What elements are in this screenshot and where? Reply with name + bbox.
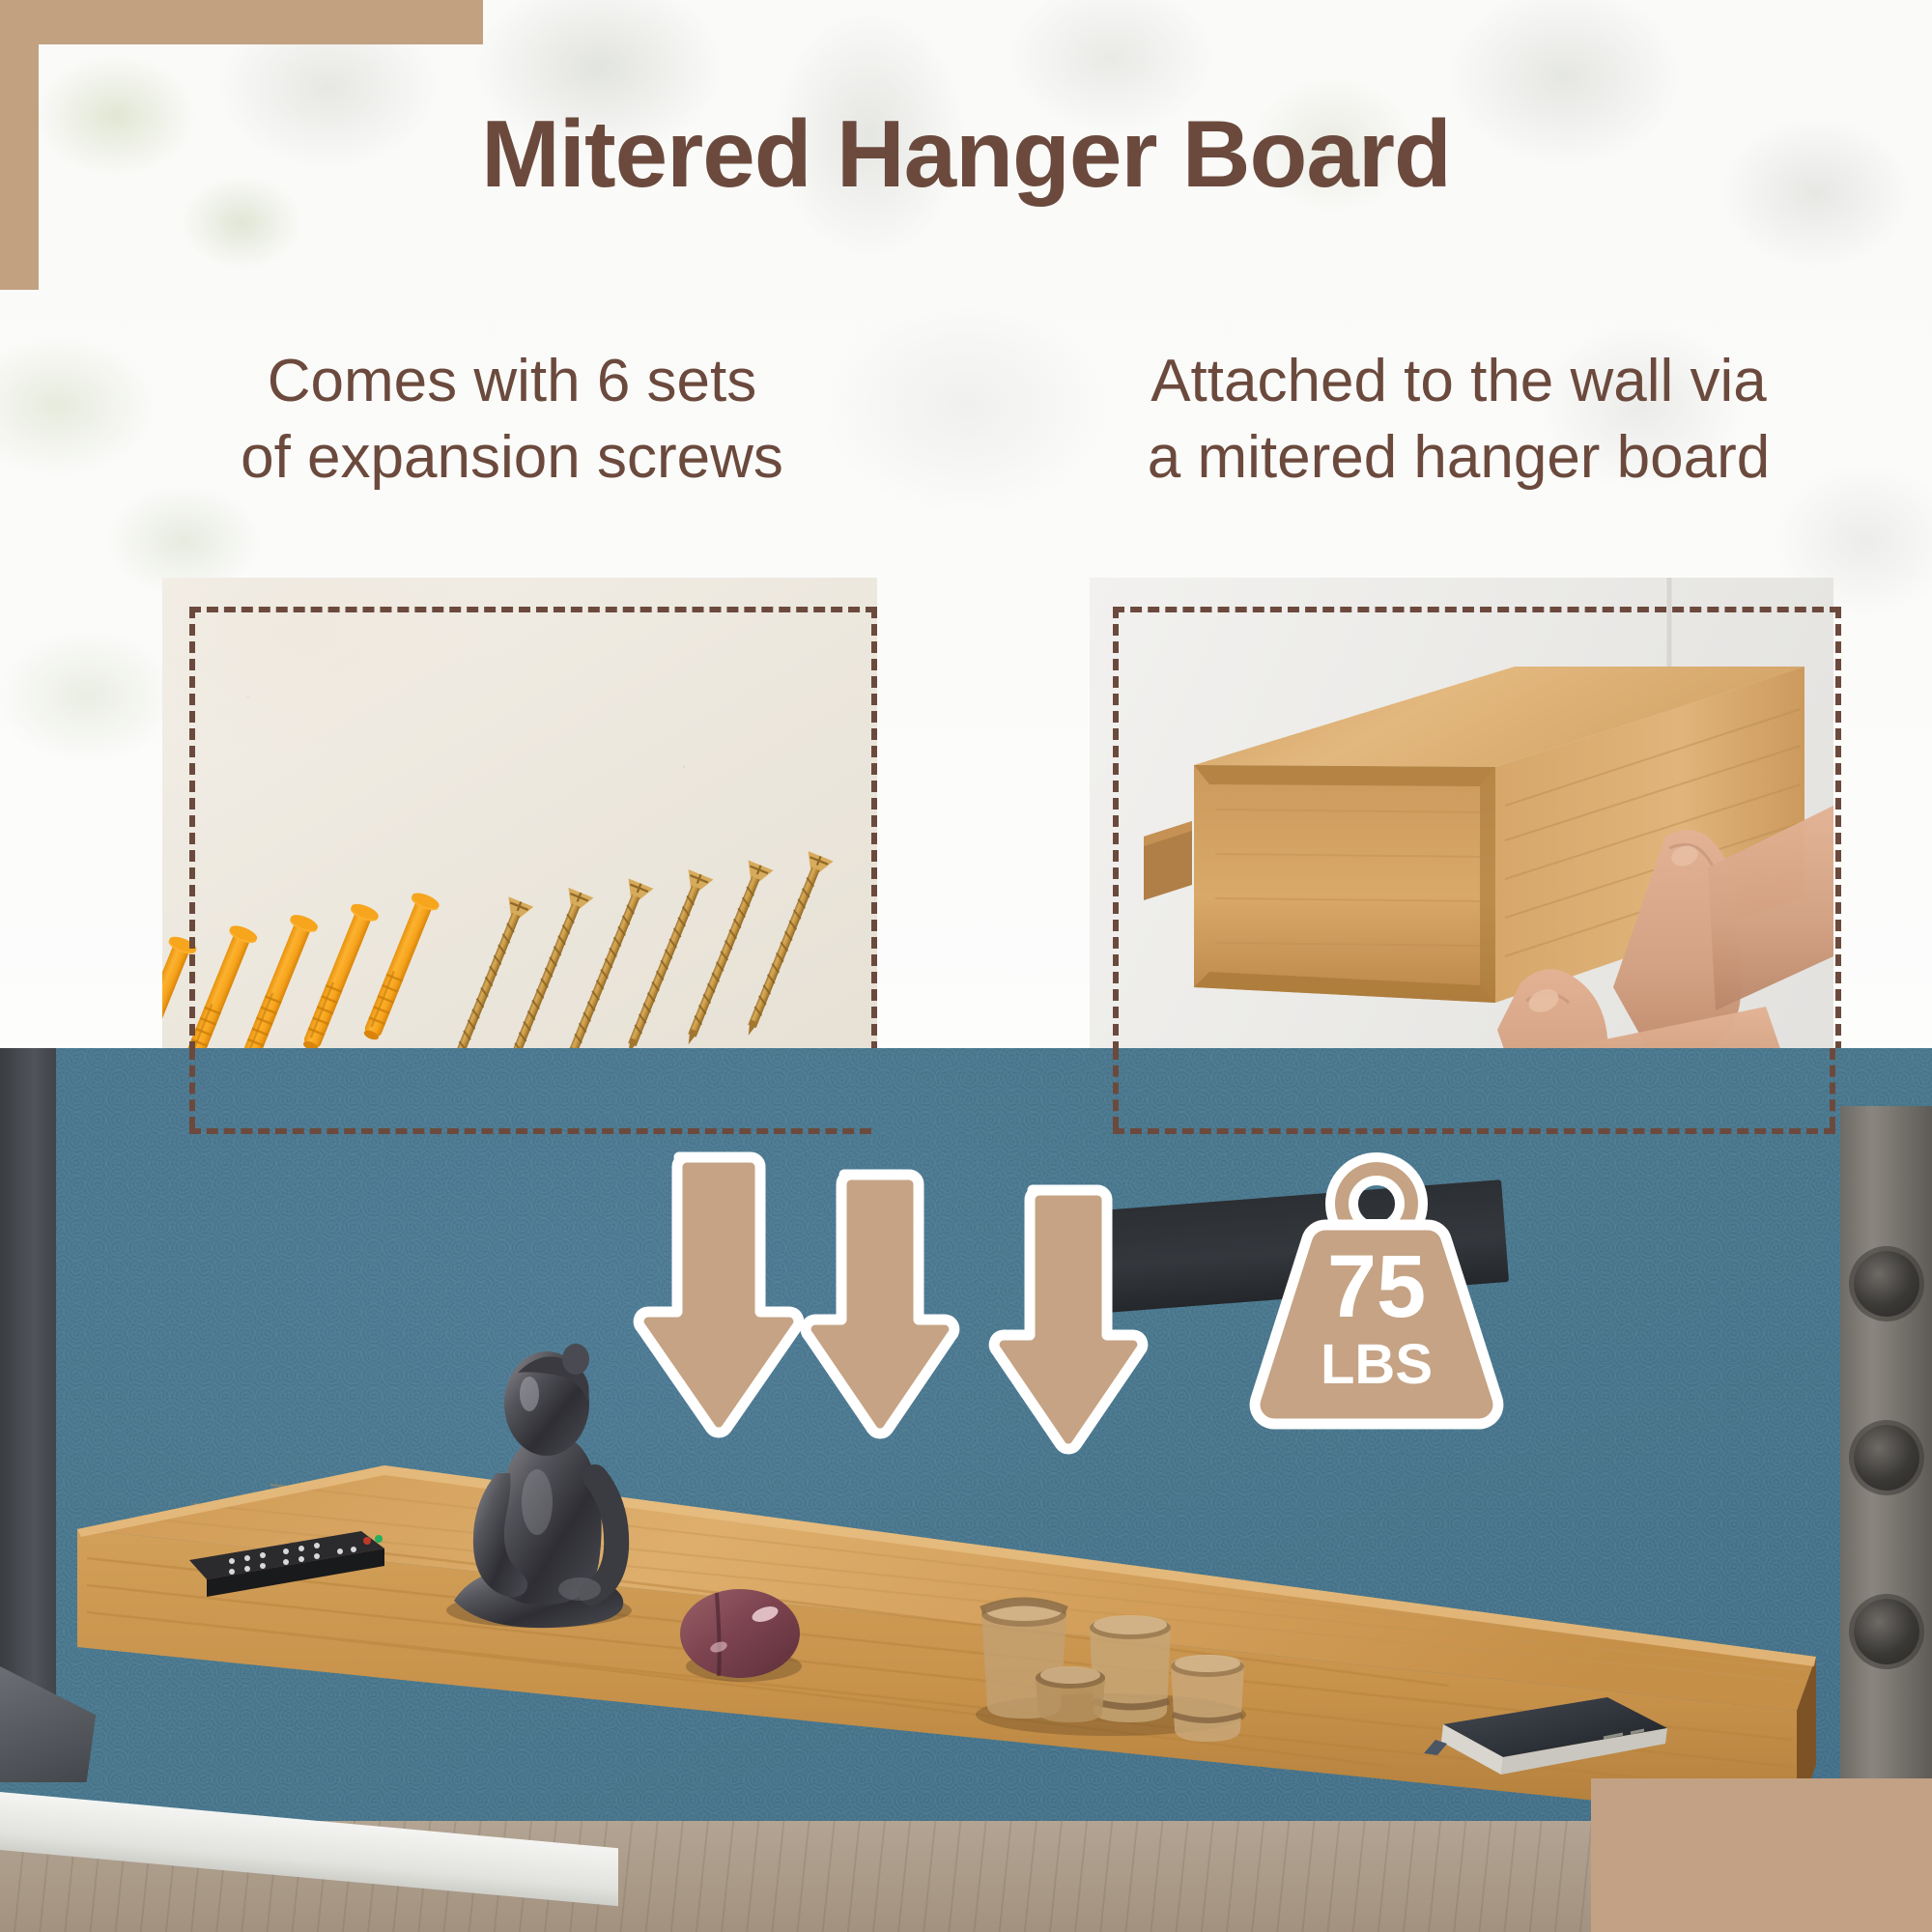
dashed-tail-board-bottom bbox=[1113, 1128, 1835, 1134]
arrow-down-icon-2 bbox=[792, 1169, 961, 1439]
dashed-tail-board-right bbox=[1830, 1048, 1835, 1128]
weight-value: 75 bbox=[1236, 1242, 1517, 1331]
corner-accent-bottom-right bbox=[1591, 1778, 1932, 1932]
dashed-tail-board-left bbox=[1113, 1048, 1119, 1128]
page-title: Mitered Hanger Board bbox=[0, 104, 1932, 204]
dashed-tail-screws-left bbox=[189, 1048, 195, 1128]
corner-accent-top-horizontal bbox=[0, 0, 483, 44]
arrow-down-icon-1 bbox=[623, 1151, 807, 1441]
dashed-tail-screws-bottom bbox=[189, 1128, 871, 1134]
weight-unit: LBS bbox=[1236, 1337, 1517, 1393]
screws-illustration bbox=[162, 578, 877, 1119]
arrow-down-icon-3 bbox=[980, 1184, 1150, 1455]
weight-capacity-badge: 75 LBS bbox=[1236, 1148, 1517, 1437]
infographic-page: Mitered Hanger Board Comes with 6 sets o… bbox=[0, 0, 1932, 1932]
photo-panel-screws bbox=[162, 578, 877, 1119]
hanger-board-illustration bbox=[1090, 578, 1833, 1119]
photo-panel-hanger-board bbox=[1090, 578, 1833, 1119]
feature-caption-expansion-screws: Comes with 6 sets of expansion screws bbox=[155, 343, 869, 497]
feature-caption-hanger-board: Attached to the wall via a mitered hange… bbox=[1024, 343, 1893, 497]
